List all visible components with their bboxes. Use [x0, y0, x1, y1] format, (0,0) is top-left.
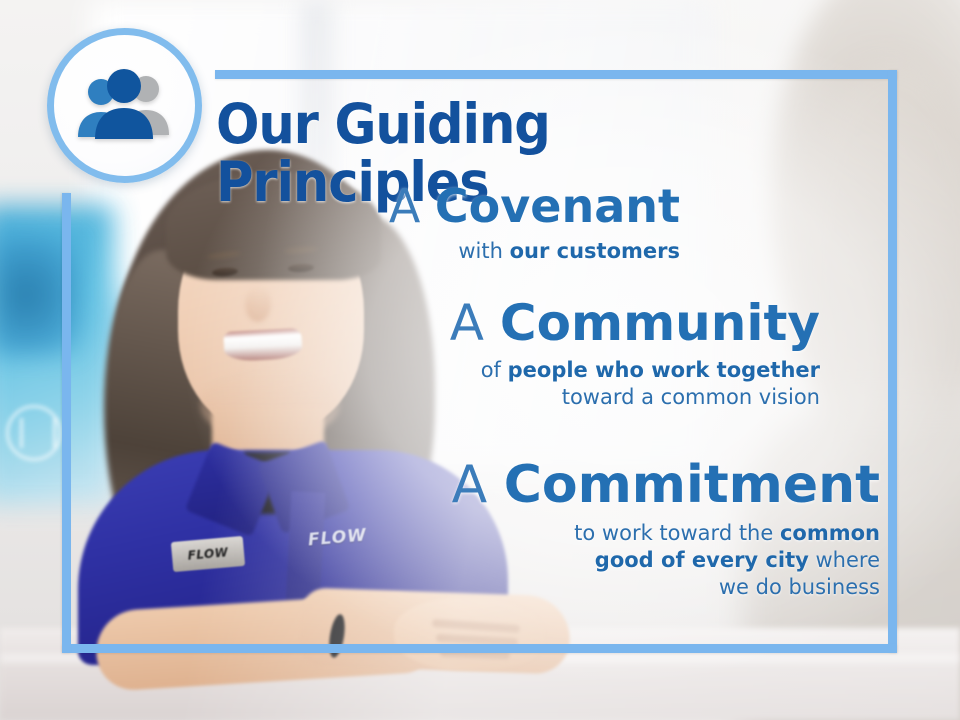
- principle-subtitle-covenant: with our customers: [280, 238, 680, 265]
- principle-title-covenant: A Covenant: [280, 182, 680, 231]
- principle-keyword: Community: [500, 294, 820, 352]
- principle-keyword: Commitment: [504, 455, 880, 515]
- principle-commitment: A Commitment to work toward the commongo…: [380, 458, 880, 601]
- principle-keyword: Covenant: [435, 179, 680, 233]
- principle-subtitle-commitment: to work toward the commongood of every c…: [380, 520, 880, 601]
- content-layer: Our Guiding Principles A Covenant with o…: [0, 0, 960, 720]
- principle-covenant: A Covenant with our customers: [280, 182, 680, 265]
- principle-community: A Community of people who work togethert…: [330, 297, 820, 411]
- principle-title-commitment: A Commitment: [380, 458, 880, 513]
- principle-subtitle-community: of people who work togethertoward a comm…: [330, 357, 820, 411]
- promotional-graphic: FLOW FLOW Our Guiding Principles: [0, 0, 960, 720]
- principle-title-community: A Community: [330, 297, 820, 350]
- principle-article: A: [452, 455, 488, 515]
- principle-article: A: [450, 294, 484, 352]
- principle-article: A: [389, 179, 420, 233]
